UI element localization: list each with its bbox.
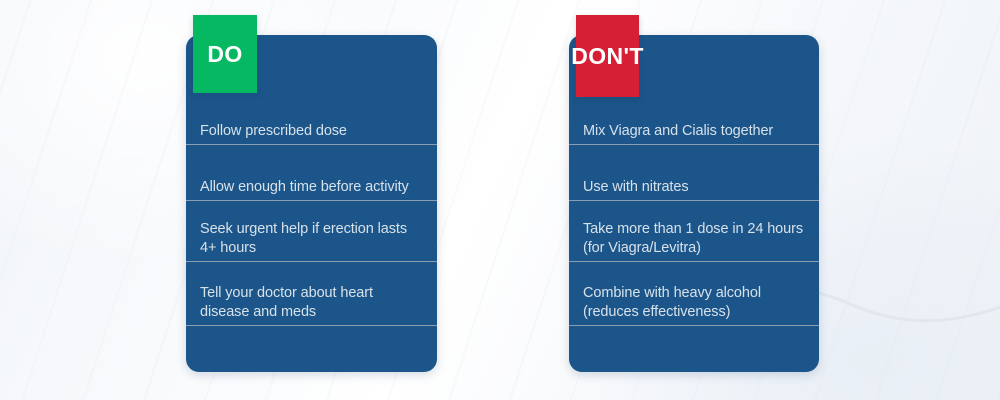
dont-card-footer-spacer	[569, 326, 819, 371]
list-item: Use with nitrates	[569, 145, 819, 201]
list-item-label: Follow prescribed dose	[200, 122, 423, 144]
list-item: Follow prescribed dose	[186, 98, 437, 145]
list-item: Take more than 1 dose in 24 hours (for V…	[569, 201, 819, 262]
list-item-label: Use with nitrates	[583, 178, 805, 200]
do-badge-label: DO	[207, 41, 242, 68]
list-item-label: Mix Viagra and Cialis together	[583, 122, 805, 144]
background-diagonal-streaks	[0, 0, 1000, 400]
list-item: Mix Viagra and Cialis together	[569, 98, 819, 145]
dont-badge-label: DON'T	[571, 43, 644, 70]
background-decoration	[0, 0, 1000, 400]
list-item: Tell your doctor about heart disease and…	[186, 262, 437, 326]
list-item-label: Seek urgent help if erection lasts 4+ ho…	[200, 220, 423, 261]
do-card-footer-spacer	[186, 326, 437, 371]
list-item: Allow enough time before activity	[186, 145, 437, 201]
list-item-label: Tell your doctor about heart disease and…	[200, 284, 423, 325]
infographic-canvas: Follow prescribed dose Allow enough time…	[0, 0, 1000, 400]
list-item-label: Take more than 1 dose in 24 hours (for V…	[583, 220, 805, 261]
list-item: Combine with heavy alcohol (reduces effe…	[569, 262, 819, 326]
list-item-label: Allow enough time before activity	[200, 178, 423, 200]
dont-badge: DON'T	[576, 15, 639, 97]
do-badge: DO	[193, 15, 257, 93]
dont-card-list: Mix Viagra and Cialis together Use with …	[569, 98, 819, 371]
do-card-list: Follow prescribed dose Allow enough time…	[186, 98, 437, 371]
list-item-label: Combine with heavy alcohol (reduces effe…	[583, 284, 805, 325]
list-item: Seek urgent help if erection lasts 4+ ho…	[186, 201, 437, 262]
